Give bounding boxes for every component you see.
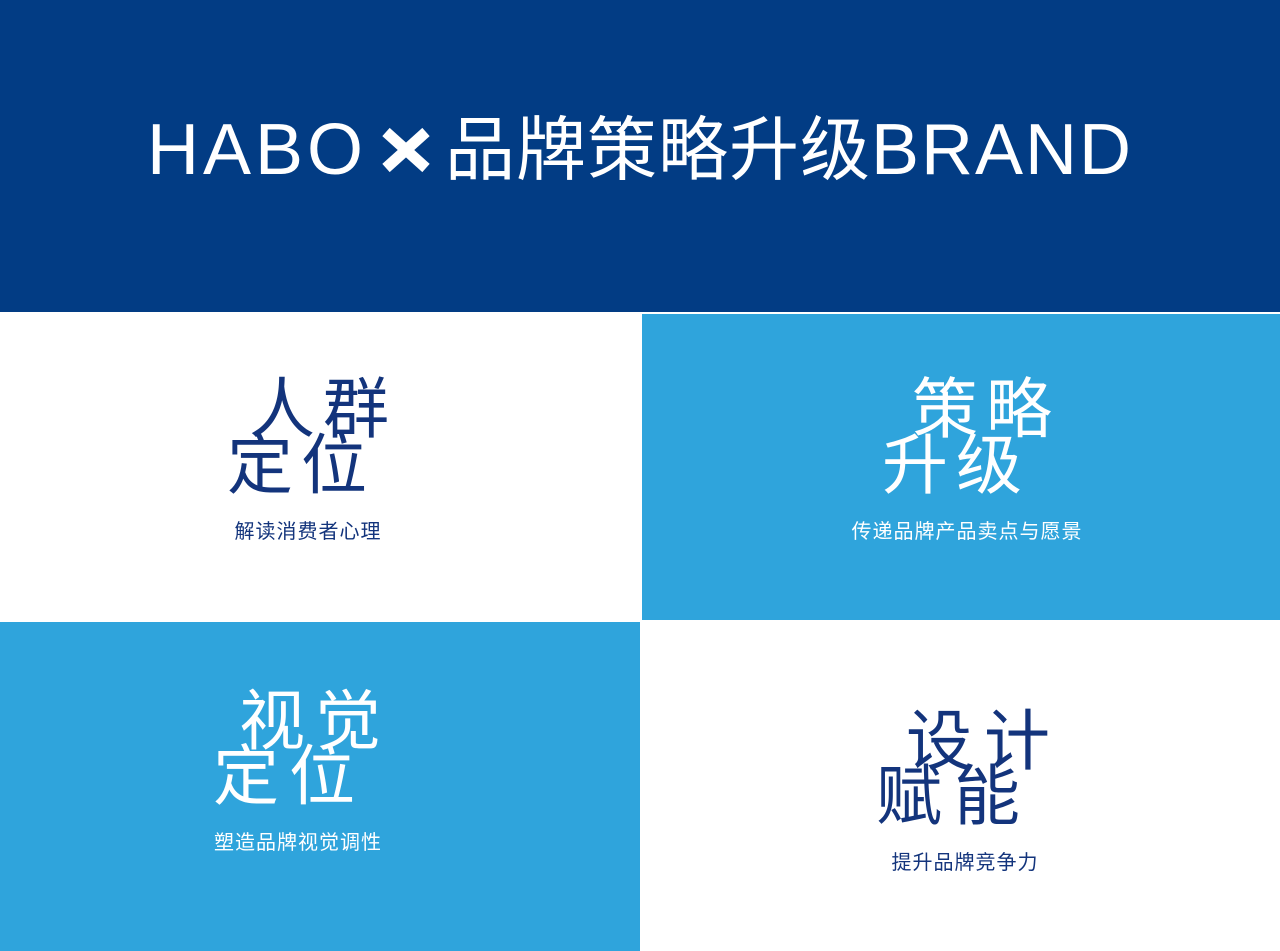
cross-icon [367, 114, 445, 186]
quadrant-heading: 视觉 定位 [205, 694, 391, 805]
quadrant-content: 策略 升级 传递品牌产品卖点与愿景 [852, 382, 1083, 544]
quadrant-content: 设计 赋能 提升品牌竞争力 [868, 714, 1062, 876]
quadrant-strategy-upgrade[interactable]: 策略 升级 传递品牌产品卖点与愿景 [642, 314, 1280, 620]
quadrant-subtitle: 塑造品牌视觉调性 [214, 826, 382, 855]
quadrant-heading: 人群 定位 [219, 382, 397, 493]
quadrant-visual-positioning[interactable]: 视觉 定位 塑造品牌视觉调性 [0, 622, 640, 951]
header-band: HABO 品牌策略升级 BRAND [0, 0, 1280, 312]
quadrant-heading-line-2: 定位 [219, 438, 397, 493]
quadrant-subtitle: 传递品牌产品卖点与愿景 [852, 515, 1083, 544]
title-cjk: 品牌策略升级 [445, 115, 871, 185]
quadrant-heading: 策略 升级 [874, 382, 1060, 493]
quadrant-heading: 设计 赋能 [868, 714, 1062, 825]
quadrant-subtitle: 解读消费者心理 [235, 515, 382, 544]
quadrant-content: 人群 定位 解读消费者心理 [219, 382, 397, 544]
quadrant-heading-line-2: 定位 [205, 749, 391, 804]
quadrant-people-positioning[interactable]: 人群 定位 解读消费者心理 [0, 314, 640, 620]
brand-name: HABO [147, 114, 367, 186]
quadrant-subtitle: 提升品牌竞争力 [892, 846, 1039, 875]
poster-canvas: HABO 品牌策略升级 BRAND 人群 定位 解读消费者心理 [0, 0, 1280, 951]
quadrant-content: 视觉 定位 塑造品牌视觉调性 [205, 694, 391, 856]
title-latin-suffix: BRAND [871, 114, 1133, 186]
page-title: HABO 品牌策略升级 BRAND [147, 114, 1133, 186]
quadrant-design-empowerment[interactable]: 设计 赋能 提升品牌竞争力 [642, 622, 1280, 951]
